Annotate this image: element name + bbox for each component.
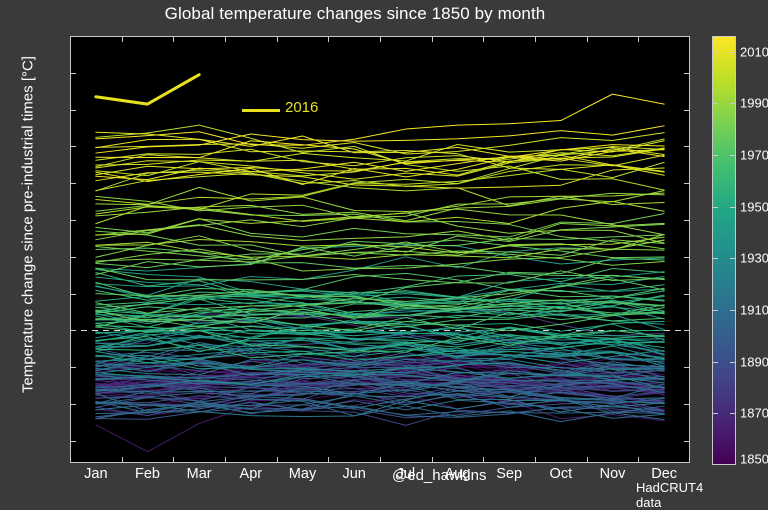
x-tick-mark bbox=[587, 457, 588, 463]
x-tick-mark-top bbox=[535, 36, 536, 42]
y-tick-mark bbox=[70, 330, 76, 331]
y-tick-mark bbox=[70, 146, 76, 147]
colorbar-tick-label: 1870 bbox=[740, 406, 768, 421]
y-tick-mark bbox=[70, 367, 76, 368]
colorbar-tick-label: 1930 bbox=[740, 251, 768, 266]
colorbar-tick-label: 2010 bbox=[740, 44, 768, 59]
x-tick-mark bbox=[380, 457, 381, 463]
y-tick-mark bbox=[70, 73, 76, 74]
x-tick-label: Sep bbox=[496, 466, 522, 482]
x-tick-mark bbox=[535, 457, 536, 463]
x-tick-mark-top bbox=[483, 36, 484, 42]
colorbar[interactable] bbox=[712, 36, 736, 465]
x-tick-mark-top bbox=[638, 36, 639, 42]
colorbar-tick-mark-left bbox=[712, 207, 718, 208]
x-tick-mark bbox=[173, 457, 174, 463]
y-tick-mark-right bbox=[684, 36, 690, 37]
y-tick-mark-right bbox=[684, 441, 690, 442]
y-tick-mark-right bbox=[684, 73, 690, 74]
x-tick-mark-top bbox=[277, 36, 278, 42]
figure-canvas: Global temperature changes since 1850 by… bbox=[0, 0, 768, 493]
x-tick-mark-top bbox=[587, 36, 588, 42]
y-tick-mark bbox=[70, 36, 76, 37]
y-tick-mark bbox=[70, 183, 76, 184]
colorbar-tick-mark-left bbox=[712, 310, 718, 311]
y-tick-mark-right bbox=[684, 110, 690, 111]
x-tick-label: May bbox=[289, 466, 316, 482]
colorbar-tick-mark-right bbox=[730, 103, 736, 104]
x-tick-label: Aug bbox=[445, 466, 471, 482]
y-axis-ticks: 1.61.41.21.00.80.60.40.20−0.2−0.4−0.6 bbox=[0, 0, 768, 493]
x-tick-label: Jul bbox=[397, 466, 416, 482]
x-tick-mark bbox=[122, 457, 123, 463]
x-tick-mark bbox=[277, 457, 278, 463]
x-tick-label: Jun bbox=[342, 466, 365, 482]
y-tick-mark-right bbox=[684, 257, 690, 258]
colorbar-tick-mark-left bbox=[712, 155, 718, 156]
x-tick-label: Oct bbox=[550, 466, 573, 482]
colorbar-tick-mark-right bbox=[730, 52, 736, 53]
x-tick-mark-top bbox=[328, 36, 329, 42]
colorbar-tick-mark-left bbox=[712, 362, 718, 363]
x-tick-label: Nov bbox=[600, 466, 626, 482]
colorbar-tick-mark-left bbox=[712, 258, 718, 259]
x-tick-mark-top bbox=[173, 36, 174, 42]
x-tick-mark-top bbox=[380, 36, 381, 42]
colorbar-tick-mark-left bbox=[712, 52, 718, 53]
y-tick-mark-right bbox=[684, 404, 690, 405]
x-tick-mark bbox=[432, 457, 433, 463]
colorbar-gradient bbox=[713, 37, 735, 464]
colorbar-tick-mark-right bbox=[730, 310, 736, 311]
colorbar-tick-mark-left bbox=[712, 413, 718, 414]
x-tick-mark bbox=[638, 457, 639, 463]
colorbar-tick-label: 1990 bbox=[740, 96, 768, 111]
x-tick-label: Dec bbox=[651, 466, 677, 482]
x-tick-mark bbox=[483, 457, 484, 463]
y-tick-mark-right bbox=[684, 183, 690, 184]
y-tick-mark bbox=[70, 257, 76, 258]
colorbar-tick-label: 1850 bbox=[740, 452, 768, 467]
colorbar-tick-mark-right bbox=[730, 207, 736, 208]
colorbar-tick-mark-left bbox=[712, 103, 718, 104]
y-tick-mark-right bbox=[684, 294, 690, 295]
colorbar-tick-label: 1910 bbox=[740, 302, 768, 317]
y-tick-mark bbox=[70, 110, 76, 111]
x-tick-label: Jan bbox=[84, 466, 107, 482]
x-tick-mark bbox=[225, 457, 226, 463]
y-tick-mark bbox=[70, 220, 76, 221]
colorbar-tick-mark-right bbox=[730, 413, 736, 414]
y-tick-mark bbox=[70, 441, 76, 442]
y-tick-mark-right bbox=[684, 220, 690, 221]
colorbar-tick-label: 1970 bbox=[740, 147, 768, 162]
x-tick-mark-top bbox=[225, 36, 226, 42]
y-tick-mark bbox=[70, 294, 76, 295]
y-tick-mark-right bbox=[684, 367, 690, 368]
colorbar-tick-label: 1890 bbox=[740, 354, 768, 369]
x-tick-mark-top bbox=[432, 36, 433, 42]
x-tick-label: Mar bbox=[187, 466, 212, 482]
x-tick-mark bbox=[328, 457, 329, 463]
colorbar-tick-mark-right bbox=[730, 258, 736, 259]
y-tick-mark bbox=[70, 404, 76, 405]
x-tick-label: Apr bbox=[240, 466, 263, 482]
x-tick-mark-top bbox=[122, 36, 123, 42]
colorbar-tick-mark-right bbox=[730, 155, 736, 156]
x-tick-label: Feb bbox=[135, 466, 160, 482]
colorbar-tick-label: 1950 bbox=[740, 199, 768, 214]
y-tick-mark-right bbox=[684, 146, 690, 147]
y-tick-mark-right bbox=[684, 330, 690, 331]
colorbar-tick-mark-right bbox=[730, 362, 736, 363]
